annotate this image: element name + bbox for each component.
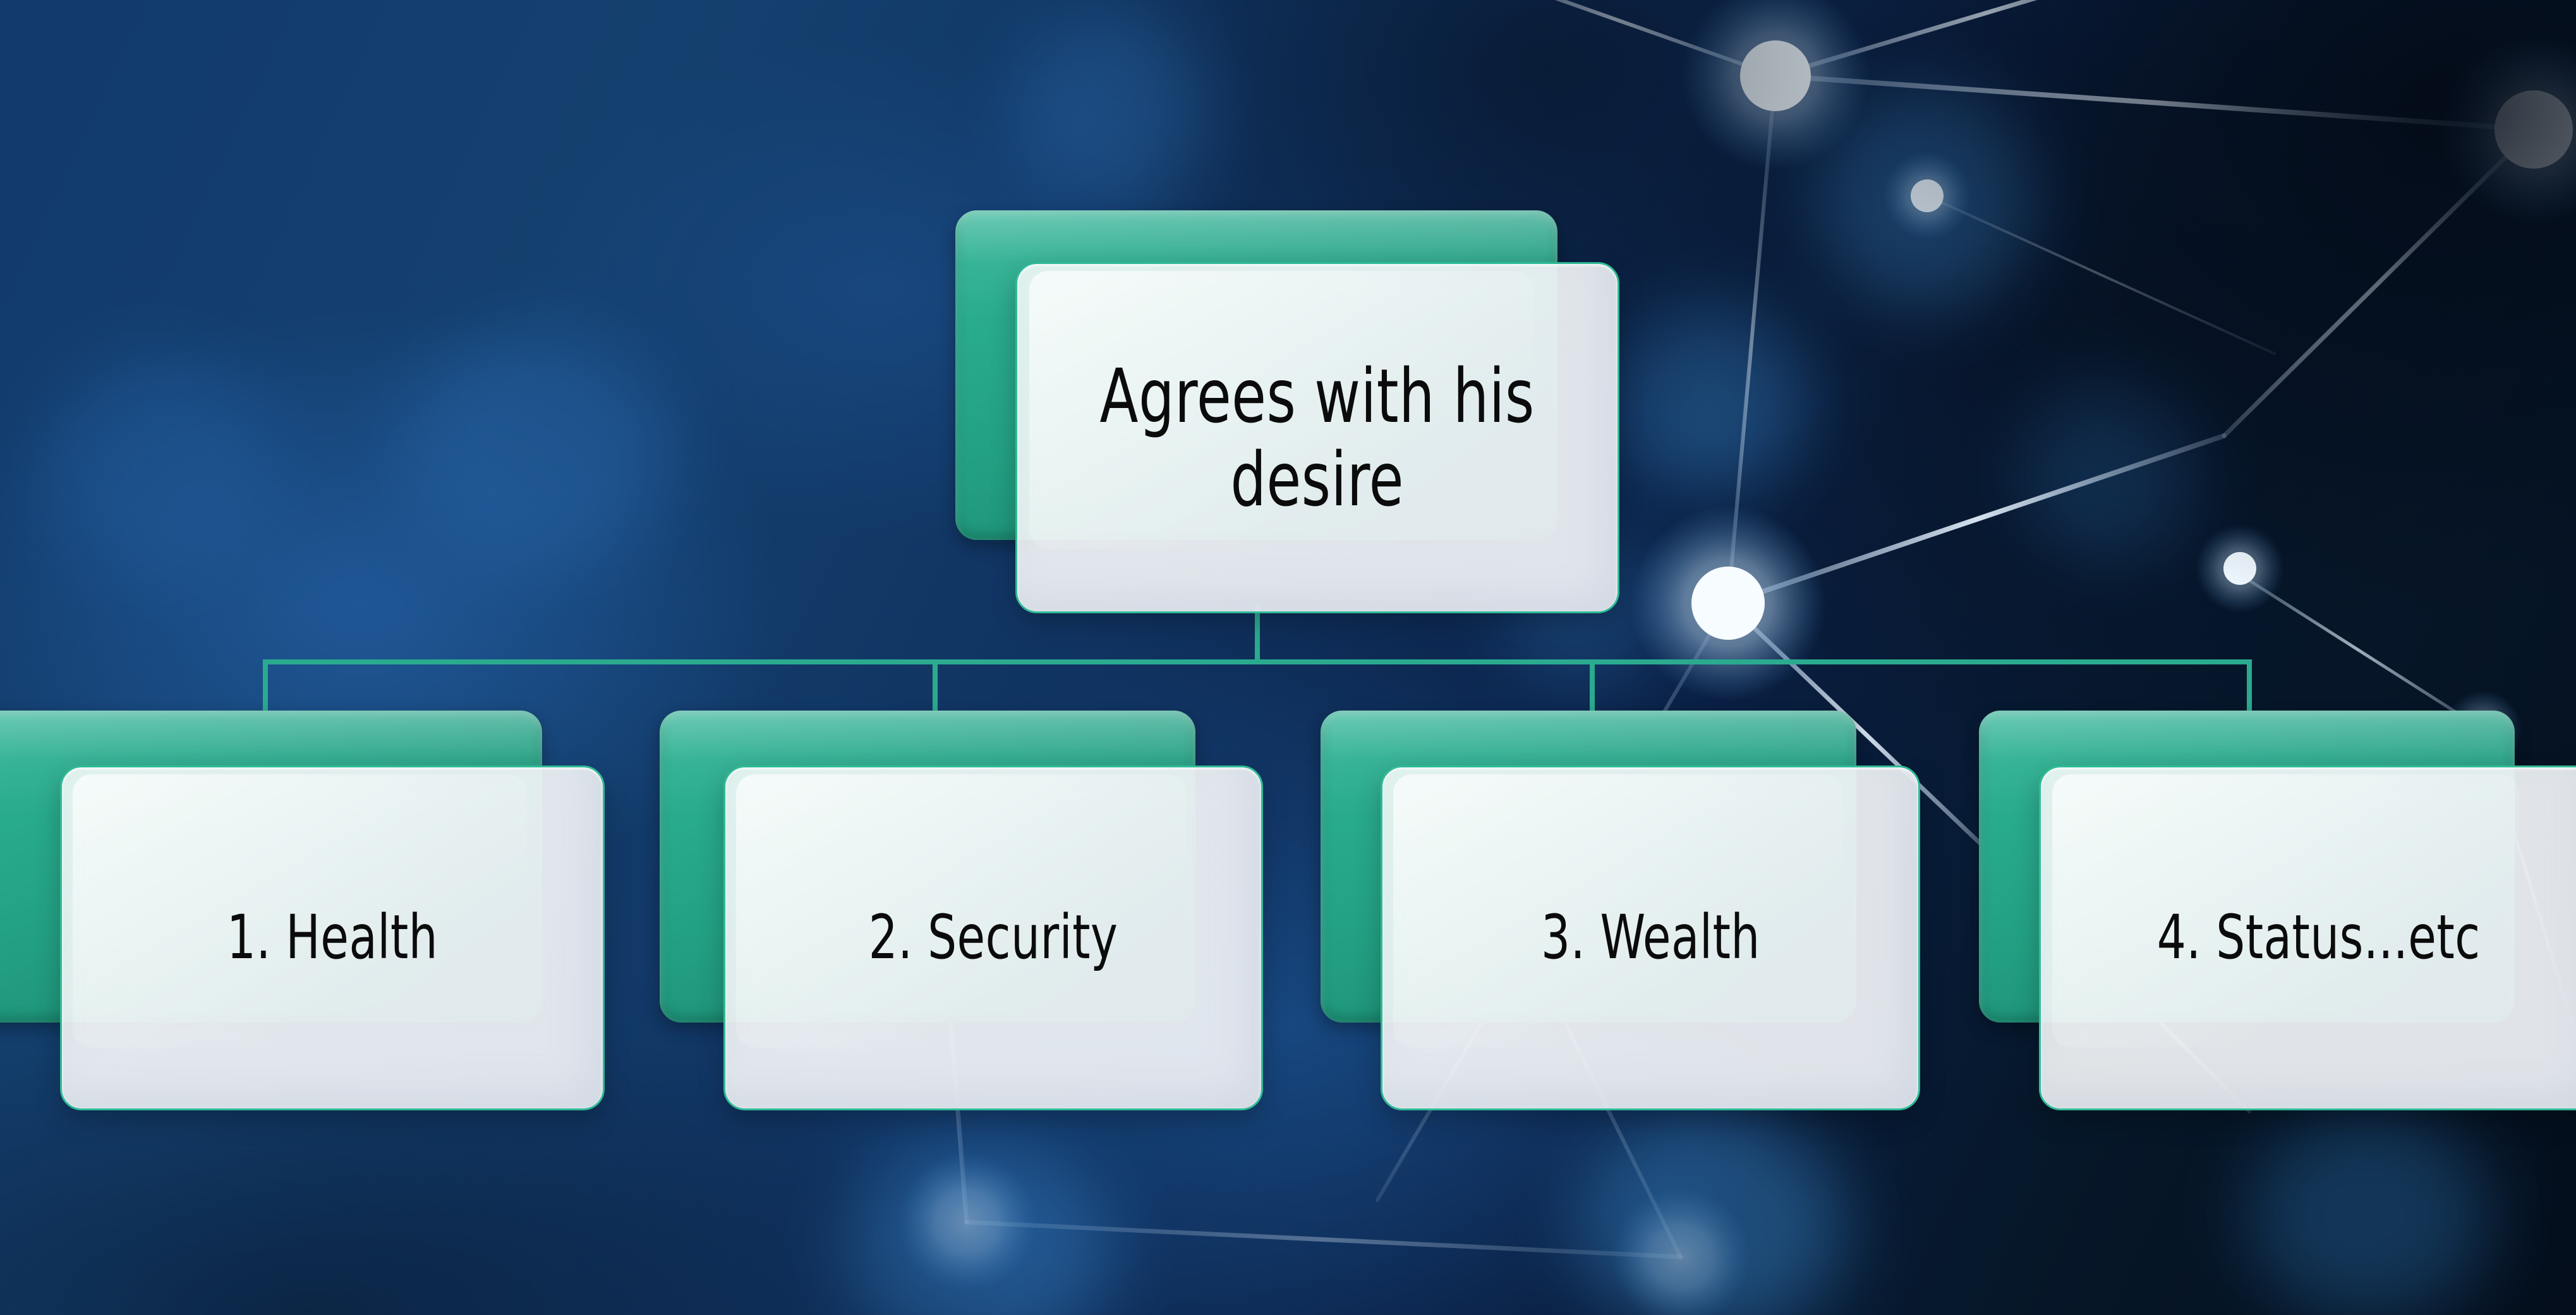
connector-drop-0 [263,659,268,712]
connector-drop-1 [933,659,938,712]
node-child-label: 1. Health [227,904,438,972]
node-child-card[interactable]: 4. Status...etc [2039,766,2576,1110]
connector-stem-root [1255,605,1260,664]
node-child-card[interactable]: 2. Security [723,766,1263,1110]
connector-drop-3 [2247,659,2252,712]
node-child-card[interactable]: 3. Wealth [1381,766,1920,1110]
connector-lines [0,0,2576,1315]
node-root-label: Agrees with his desire [1100,354,1535,521]
node-root-card[interactable]: Agrees with his desire [1015,262,1619,613]
node-child-label: 2. Security [869,904,1118,972]
slide-canvas: Agrees with his desire 1. Health 2. Secu… [0,0,2576,1315]
connector-horizontal-bar [265,659,2252,664]
connector-drop-2 [1590,659,1595,712]
node-child-card[interactable]: 1. Health [60,766,605,1110]
node-child-label: 4. Status...etc [2157,904,2481,972]
node-child-label: 3. Wealth [1541,904,1760,972]
